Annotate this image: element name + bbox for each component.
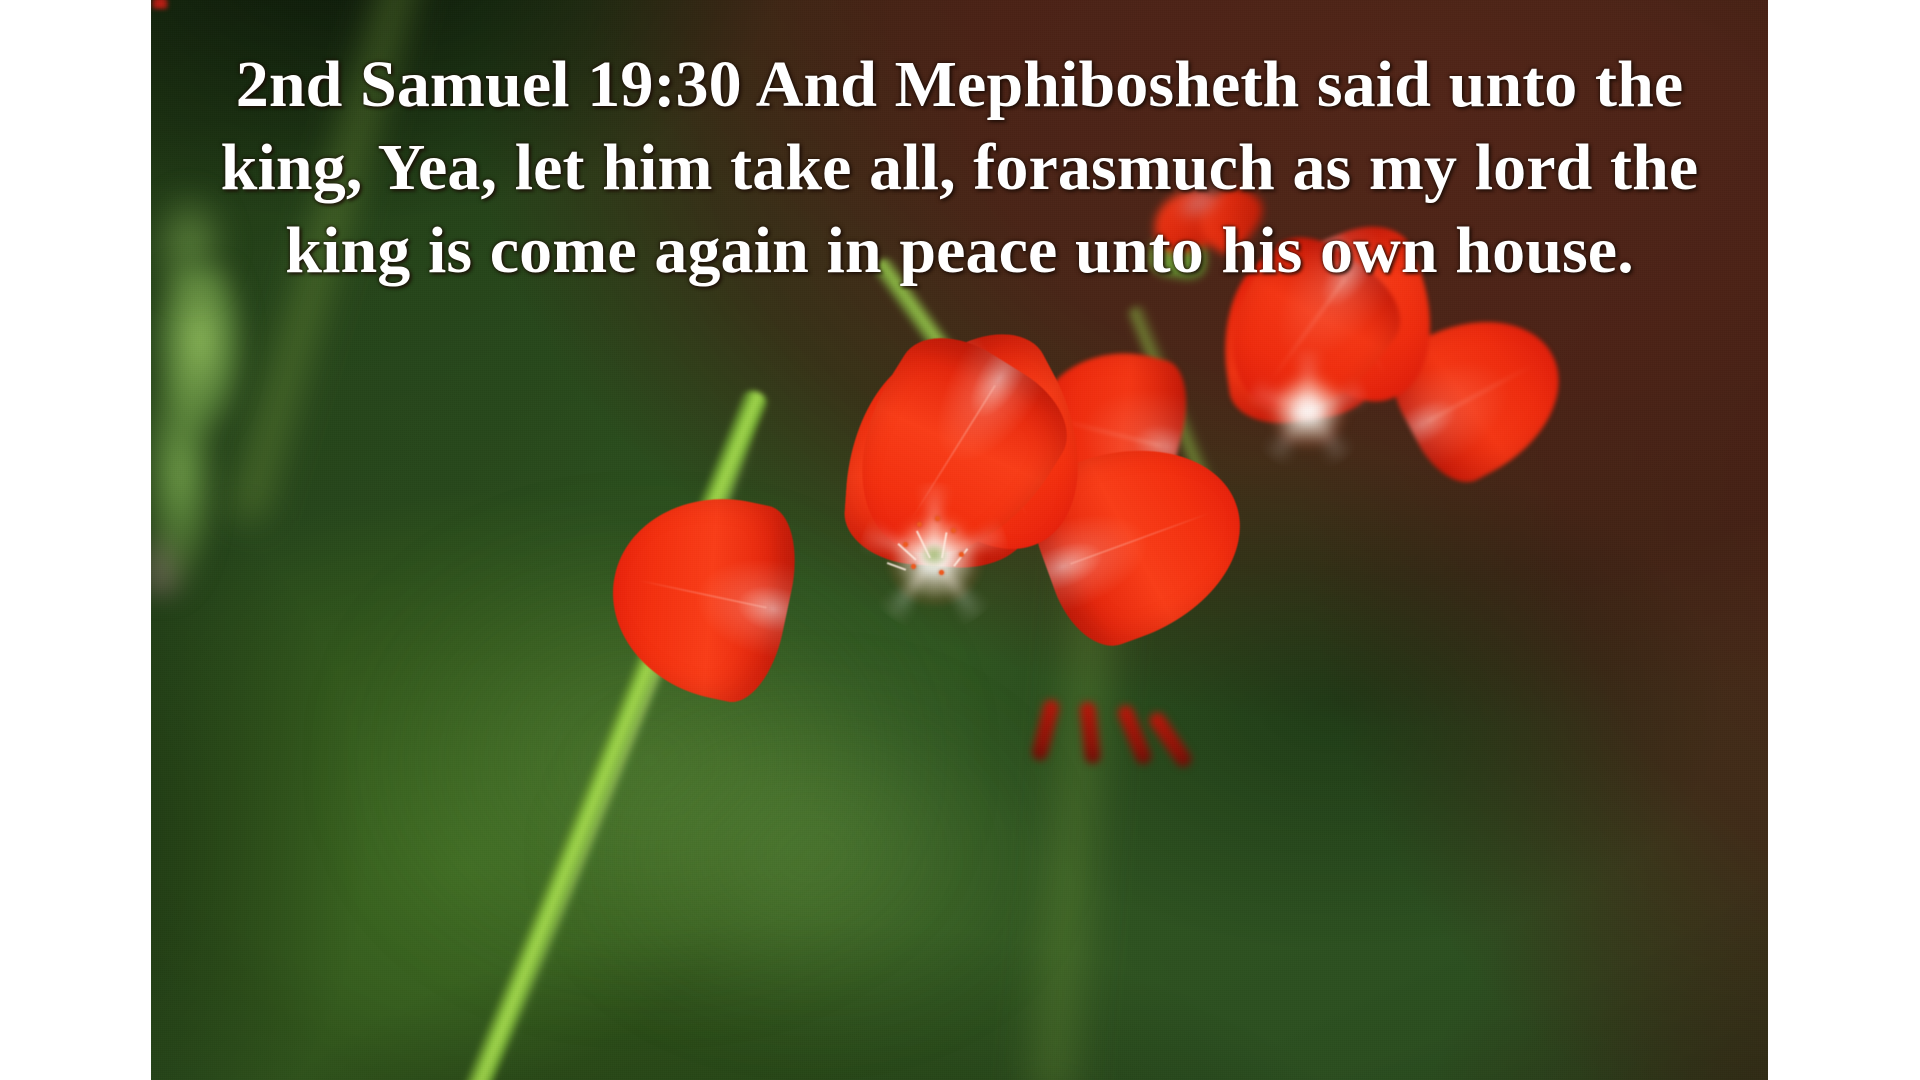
front-flower (933, 558, 943, 568)
stamen-anther (911, 564, 916, 569)
sepal (1079, 701, 1101, 764)
stamen-anther (939, 570, 944, 575)
stamen-anther (935, 516, 940, 521)
sepal (1030, 698, 1061, 762)
stamen-anther (917, 522, 922, 527)
sepal (1116, 703, 1154, 766)
left-foliage-leaf-2 (151, 170, 239, 320)
light-patch-highlight-2 (581, 690, 1041, 1020)
stamen-anther (903, 542, 908, 547)
stamen-anther (951, 528, 956, 533)
back-flower (1306, 410, 1316, 420)
back-flower-center (1268, 370, 1348, 450)
top-edge-red-speck (152, 0, 168, 9)
stamen-anther (959, 552, 964, 557)
slide-canvas: 2nd Samuel 19:30 And Mephibosheth said u… (0, 0, 1920, 1080)
background-photo (151, 0, 1768, 1080)
flower-sepals (1031, 700, 1181, 820)
